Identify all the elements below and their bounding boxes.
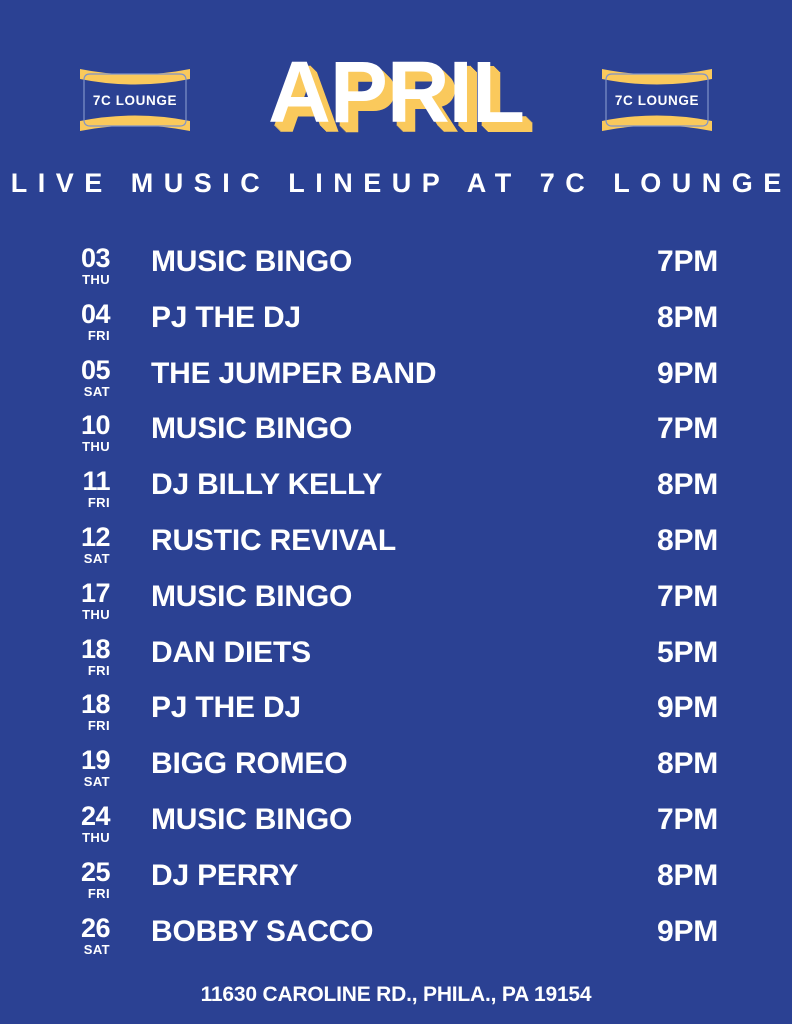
date-day: 12 (0, 522, 110, 552)
date-cell: 05 SAT (0, 355, 118, 399)
date-cell: 24 THU (0, 801, 118, 845)
event-name: DAN DIETS (118, 634, 652, 672)
event-name: DJ PERRY (118, 857, 652, 895)
date-day: 19 (0, 745, 110, 775)
event-time: 8PM (652, 466, 792, 504)
venue-address: 11630 CAROLINE RD., PHILA., PA 19154 (0, 983, 792, 1007)
event-time: 9PM (652, 689, 792, 727)
event-time: 9PM (652, 913, 792, 951)
event-name: THE JUMPER BAND (118, 355, 652, 393)
date-weekday: FRI (0, 663, 110, 678)
date-cell: 11 FRI (0, 466, 118, 510)
schedule-row: 03 THU MUSIC BINGO 7PM (0, 243, 792, 299)
schedule-row: 17 THU MUSIC BINGO 7PM (0, 578, 792, 634)
date-cell: 18 FRI (0, 634, 118, 678)
event-time: 8PM (652, 522, 792, 560)
event-name: PJ THE DJ (118, 689, 652, 727)
event-name: BOBBY SACCO (118, 913, 652, 951)
schedule-row: 18 FRI PJ THE DJ 9PM (0, 689, 792, 745)
event-time: 7PM (652, 410, 792, 448)
date-day: 24 (0, 801, 110, 831)
event-name: MUSIC BINGO (118, 410, 652, 448)
event-time: 8PM (652, 857, 792, 895)
schedule-row: 19 SAT BIGG ROMEO 8PM (0, 745, 792, 801)
event-time: 9PM (652, 355, 792, 393)
schedule-row: 11 FRI DJ BILLY KELLY 8PM (0, 466, 792, 522)
date-day: 18 (0, 689, 110, 719)
schedule-row: 05 SAT THE JUMPER BAND 9PM (0, 355, 792, 411)
event-name: RUSTIC REVIVAL (118, 522, 652, 560)
date-weekday: SAT (0, 551, 110, 566)
date-weekday: THU (0, 439, 110, 454)
event-name: PJ THE DJ (118, 299, 652, 337)
schedule-row: 04 FRI PJ THE DJ 8PM (0, 299, 792, 355)
event-time: 7PM (652, 578, 792, 616)
event-name: MUSIC BINGO (118, 578, 652, 616)
date-weekday: SAT (0, 774, 110, 789)
date-cell: 19 SAT (0, 745, 118, 789)
date-cell: 17 THU (0, 578, 118, 622)
event-time: 8PM (652, 745, 792, 783)
date-cell: 26 SAT (0, 913, 118, 957)
date-weekday: FRI (0, 328, 110, 343)
event-name: MUSIC BINGO (118, 801, 652, 839)
date-weekday: THU (0, 272, 110, 287)
date-cell: 12 SAT (0, 522, 118, 566)
date-day: 05 (0, 355, 110, 385)
date-weekday: THU (0, 607, 110, 622)
date-weekday: SAT (0, 942, 110, 957)
event-time: 7PM (652, 243, 792, 281)
schedule-row: 26 SAT BOBBY SACCO 9PM (0, 913, 792, 969)
event-time: 8PM (652, 299, 792, 337)
event-time: 5PM (652, 634, 792, 672)
date-cell: 10 THU (0, 410, 118, 454)
date-day: 10 (0, 410, 110, 440)
poster: 7C LOUNGE 7C LOUNGE APRIL LIVE MUSIC LIN… (0, 0, 792, 1024)
event-name: MUSIC BINGO (118, 243, 652, 281)
schedule-row: 10 THU MUSIC BINGO 7PM (0, 410, 792, 466)
date-weekday: FRI (0, 886, 110, 901)
schedule-row: 12 SAT RUSTIC REVIVAL 8PM (0, 522, 792, 578)
date-day: 25 (0, 857, 110, 887)
schedule-row: 24 THU MUSIC BINGO 7PM (0, 801, 792, 857)
schedule-list: 03 THU MUSIC BINGO 7PM 04 FRI PJ THE DJ … (0, 243, 792, 968)
event-name: DJ BILLY KELLY (118, 466, 652, 504)
event-name: BIGG ROMEO (118, 745, 652, 783)
month-title-wrap: APRIL (0, 47, 792, 139)
schedule-row: 25 FRI DJ PERRY 8PM (0, 857, 792, 913)
poster-header: 7C LOUNGE 7C LOUNGE APRIL (0, 0, 792, 160)
date-cell: 25 FRI (0, 857, 118, 901)
date-weekday: FRI (0, 718, 110, 733)
date-day: 17 (0, 578, 110, 608)
date-day: 11 (0, 466, 110, 496)
poster-subtitle: LIVE MUSIC LINEUP AT 7C LOUNGE (0, 168, 792, 199)
date-weekday: THU (0, 830, 110, 845)
date-day: 18 (0, 634, 110, 664)
schedule-row: 18 FRI DAN DIETS 5PM (0, 634, 792, 690)
date-weekday: FRI (0, 495, 110, 510)
date-day: 03 (0, 243, 110, 273)
month-title: APRIL (268, 47, 524, 139)
date-cell: 04 FRI (0, 299, 118, 343)
date-cell: 18 FRI (0, 689, 118, 733)
date-weekday: SAT (0, 384, 110, 399)
event-time: 7PM (652, 801, 792, 839)
date-day: 04 (0, 299, 110, 329)
date-cell: 03 THU (0, 243, 118, 287)
date-day: 26 (0, 913, 110, 943)
